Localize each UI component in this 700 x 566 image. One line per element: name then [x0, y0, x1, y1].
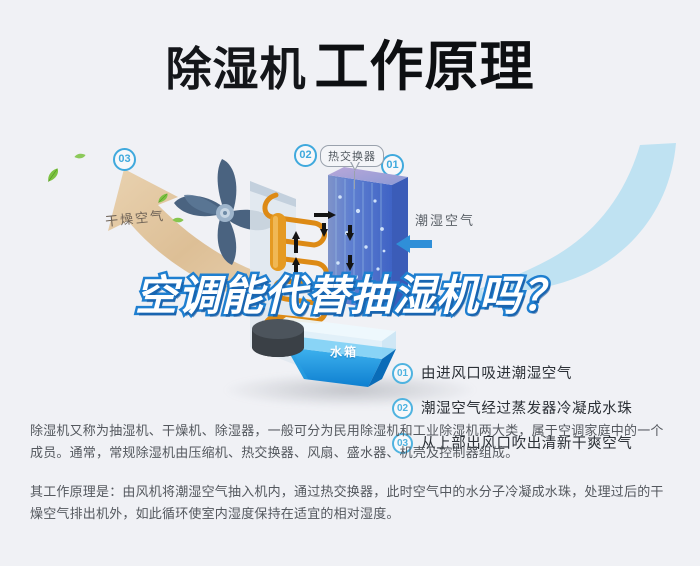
step-text: 潮湿空气经过蒸发器冷凝成水珠: [421, 397, 632, 418]
page-title-part2: 工作原理: [315, 37, 535, 97]
step-number: 01: [392, 363, 413, 384]
callout-stem-icon: [354, 171, 355, 189]
dehumidifier-diagram: 潮湿空气 01 干燥空气 03: [0, 115, 700, 415]
page-title: 除湿机工作原理: [0, 22, 700, 101]
step-number: 02: [392, 398, 413, 419]
badge-03: 03: [113, 148, 136, 171]
article-paragraph-2: 其工作原理是：由风机将潮湿空气抽入机内，通过热交换器，此时空气中的水分子冷凝成水…: [30, 481, 670, 525]
article-body: 除湿机又称为抽湿机、干燥机、除湿器，一般可分为民用除湿机和工业除湿机两大类，属于…: [30, 420, 670, 525]
article-paragraph-1: 除湿机又称为抽湿机、干燥机、除湿器，一般可分为民用除湿机和工业除湿机两大类，属于…: [30, 420, 670, 464]
badge-02: 02: [294, 144, 317, 167]
leaf-icon: [74, 151, 87, 161]
step-text: 由进风口吸进潮湿空气: [421, 362, 572, 383]
page-title-part1: 除湿机: [166, 43, 307, 95]
callout-tail-icon: [350, 162, 360, 171]
page-root: 除湿机工作原理 潮湿空气 01: [0, 0, 700, 566]
list-item: 01 由进风口吸进潮湿空气: [392, 360, 692, 395]
water-tank-label: 水箱: [330, 343, 358, 360]
